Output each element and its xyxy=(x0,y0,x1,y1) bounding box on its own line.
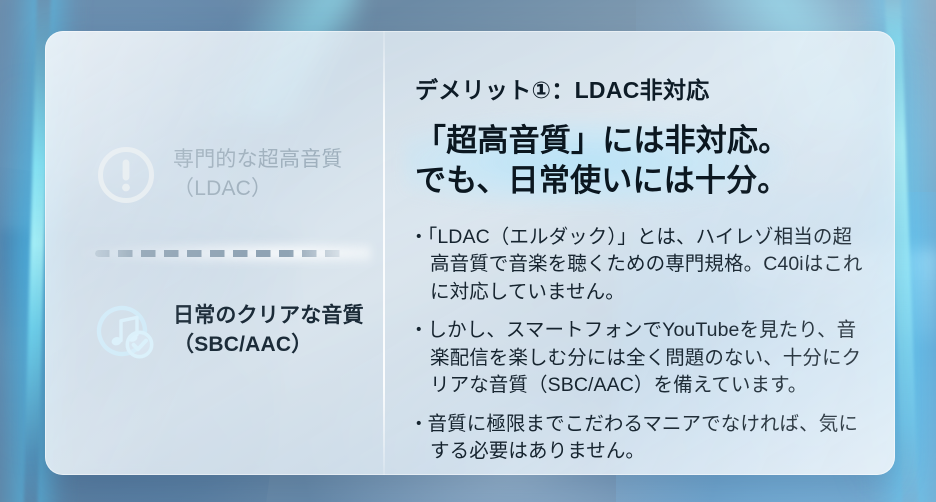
list-item: ・音質に極限までこだわるマニアでなければ、気にする必要はありません。 xyxy=(409,411,865,466)
feature-label-ldac: 専門的な超高音質 （LDAC） xyxy=(173,146,343,203)
comparison-panel: 専門的な超高音質 （LDAC） xyxy=(45,31,383,475)
glow-streak-left-soft xyxy=(8,80,48,460)
content-card: 専門的な超高音質 （LDAC） xyxy=(45,31,895,475)
list-item-text: 「LDAC（エルダック）」とは、ハイレゾ相当の超高音質で音楽を聴くための専門規格… xyxy=(428,226,863,303)
list-item-text: 音質に極限までこだわるマニアでなければ、気にする必要はありません。 xyxy=(428,413,858,462)
bullet-marker: ・ xyxy=(409,226,428,248)
bullet-list: ・「LDAC（エルダック）」とは、ハイレゾ相当の超高音質で音楽を聴くための専門規… xyxy=(409,224,865,466)
exclamation-circle-icon xyxy=(95,144,157,206)
vertical-divider xyxy=(383,31,385,475)
bullet-marker: ・ xyxy=(409,413,428,435)
list-item-text: しかし、スマートフォンでYouTubeを見たり、音楽配信を楽しむ分には全く問題の… xyxy=(428,319,862,396)
dashed-separator xyxy=(51,223,383,283)
list-item: ・しかし、スマートフォンでYouTubeを見たり、音楽配信を楽しむ分には全く問題… xyxy=(409,317,865,399)
feature-label-sbc-aac: 日常のクリアな音質 （SBC/AAC） xyxy=(173,302,364,359)
separator-dashes xyxy=(95,250,343,257)
detail-panel: デメリット①：LDAC非対応 「超高音質」には非対応。 でも、日常使いには十分。… xyxy=(383,31,895,475)
bullet-marker: ・ xyxy=(409,319,428,341)
page-title: 「超高音質」には非対応。 でも、日常使いには十分。 xyxy=(415,121,789,202)
feature-row-ldac: 専門的な超高音質 （LDAC） xyxy=(51,127,383,223)
section-eyebrow: デメリット①：LDAC非対応 xyxy=(415,71,865,105)
feature-row-sbc-aac: 日常のクリアな音質 （SBC/AAC） xyxy=(51,283,383,379)
slide-canvas: 専門的な超高音質 （LDAC） xyxy=(0,0,936,502)
headline-block: 「超高音質」には非対応。 でも、日常使いには十分。 xyxy=(409,119,795,206)
music-note-check-icon xyxy=(95,300,157,362)
list-item: ・「LDAC（エルダック）」とは、ハイレゾ相当の超高音質で音楽を聴くための専門規… xyxy=(409,224,865,306)
